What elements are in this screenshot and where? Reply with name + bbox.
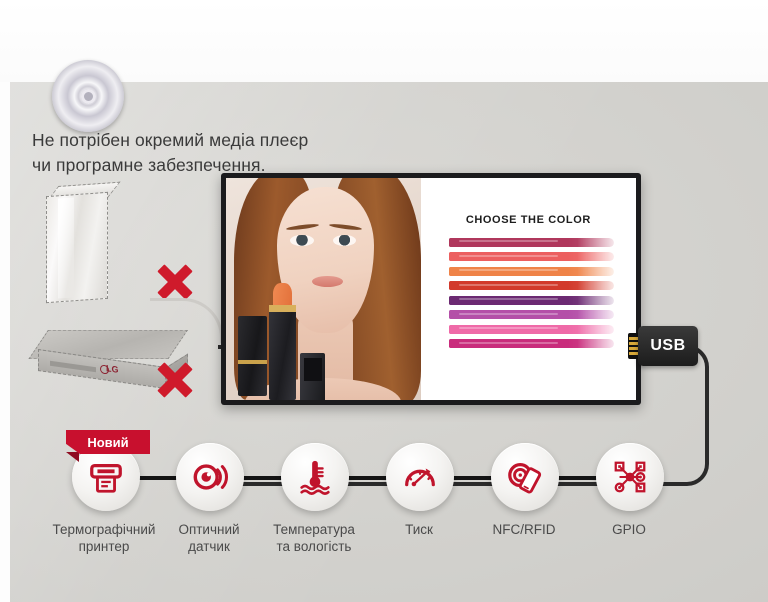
color-swatch[interactable]: [449, 339, 615, 348]
color-swatch[interactable]: [449, 238, 615, 247]
new-badge-label: Новий: [87, 435, 128, 450]
new-badge: Новий: [66, 430, 150, 454]
usb-dongle: USB: [638, 326, 698, 366]
swatch-list: [449, 238, 615, 354]
color-swatch[interactable]: [449, 296, 615, 305]
optical-sensor-icon: [191, 458, 229, 496]
chain-node-label-line-2: та вологість: [244, 538, 384, 555]
headline-line-1: Не потрібен окремий медіа плеєр: [32, 130, 308, 150]
chooser-title: CHOOSE THE COLOR: [421, 214, 636, 226]
chain-node-nfc-rfid[interactable]: [491, 443, 559, 511]
cross-out-media-player-icon: [155, 360, 195, 400]
thermal-printer-icon: [87, 458, 125, 496]
color-swatch[interactable]: [449, 252, 615, 261]
thermometer-icon: [296, 458, 334, 496]
display-screen: CHOOSE THE COLOR: [226, 178, 636, 400]
color-swatch[interactable]: [449, 267, 615, 276]
top-white-band: [0, 0, 768, 82]
lipstick-product-1: [238, 316, 267, 396]
cd-disc-icon: [52, 60, 124, 132]
cross-out-software-icon: [155, 262, 195, 302]
chain-node-optical-sensor[interactable]: [176, 443, 244, 511]
color-swatch[interactable]: [449, 281, 615, 290]
nfc-rfid-icon: [506, 458, 544, 496]
chain-node-thermometer[interactable]: [281, 443, 349, 511]
lipstick-product-3: [300, 353, 325, 400]
color-swatch[interactable]: [449, 310, 615, 319]
headline: Не потрібен окремий медіа плеєр чи прогр…: [32, 128, 452, 178]
color-swatch[interactable]: [449, 325, 615, 334]
chain-node-gpio[interactable]: [596, 443, 664, 511]
color-chooser-panel: CHOOSE THE COLOR: [421, 178, 636, 400]
usb-label: USB: [650, 337, 685, 355]
model-photo: [226, 178, 421, 400]
left-white-margin: [0, 82, 10, 602]
display-monitor: CHOOSE THE COLOR: [221, 173, 641, 405]
chain-node-label: GPIO: [559, 521, 699, 538]
lipstick-product-2: [269, 307, 296, 400]
promo-graphic: Не потрібен окремий медіа плеєр чи прогр…: [0, 0, 768, 602]
pressure-gauge-icon: [401, 458, 439, 496]
software-package-illustration: [46, 186, 126, 301]
gpio-icon: [611, 458, 649, 496]
chain-node-label-line-1: GPIO: [559, 521, 699, 538]
chain-node-pressure-gauge[interactable]: [386, 443, 454, 511]
